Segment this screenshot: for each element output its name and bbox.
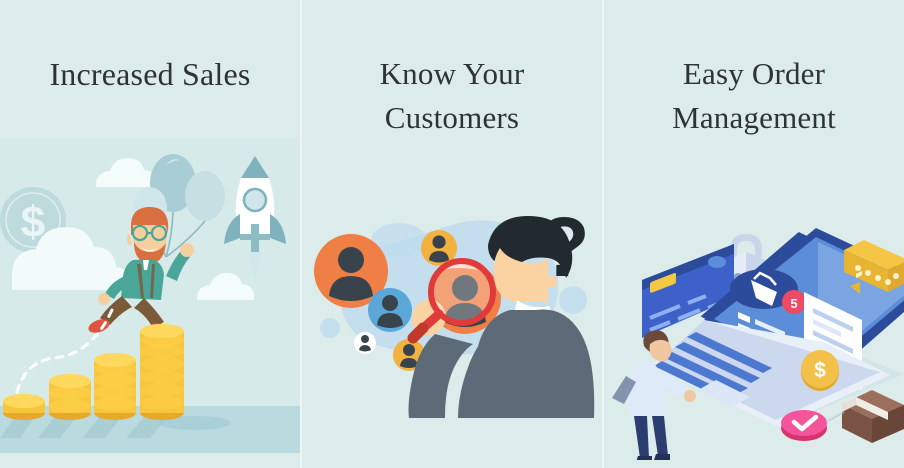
panel-easy-order-management: Easy Order Management (604, 0, 904, 468)
user-avatar-icon (368, 288, 412, 332)
user-avatar-icon (354, 332, 376, 354)
panel-title-line-2: Management (622, 96, 886, 140)
panel-title-know-your-customers: Know Your Customers (302, 0, 602, 140)
feature-panels-board: Increased Sales $ (0, 0, 904, 468)
panel-increased-sales: Increased Sales $ (0, 0, 300, 468)
panel-title-line-1: Know Your (320, 52, 584, 96)
svg-text:$: $ (814, 359, 826, 382)
cart-count-badge-value: 5 (790, 296, 797, 311)
panel-title-increased-sales: Increased Sales (0, 0, 300, 96)
illustration-know-your-customers: ? (302, 180, 602, 430)
panel-know-your-customers: Know Your Customers (302, 0, 602, 468)
illustration-easy-order-management: 5 (604, 220, 904, 460)
cart-count-badge: 5 (782, 290, 806, 314)
illustration-increased-sales: $ (0, 138, 300, 468)
question-mark-icon: ? (538, 200, 589, 294)
panel-title-easy-order-management: Easy Order Management (604, 0, 904, 140)
panel-title-line-1: Easy Order (622, 52, 886, 96)
panel-title-line-2: Customers (320, 96, 584, 140)
svg-text:?: ? (538, 200, 589, 294)
dollar-coin-icon: $ (801, 350, 839, 391)
